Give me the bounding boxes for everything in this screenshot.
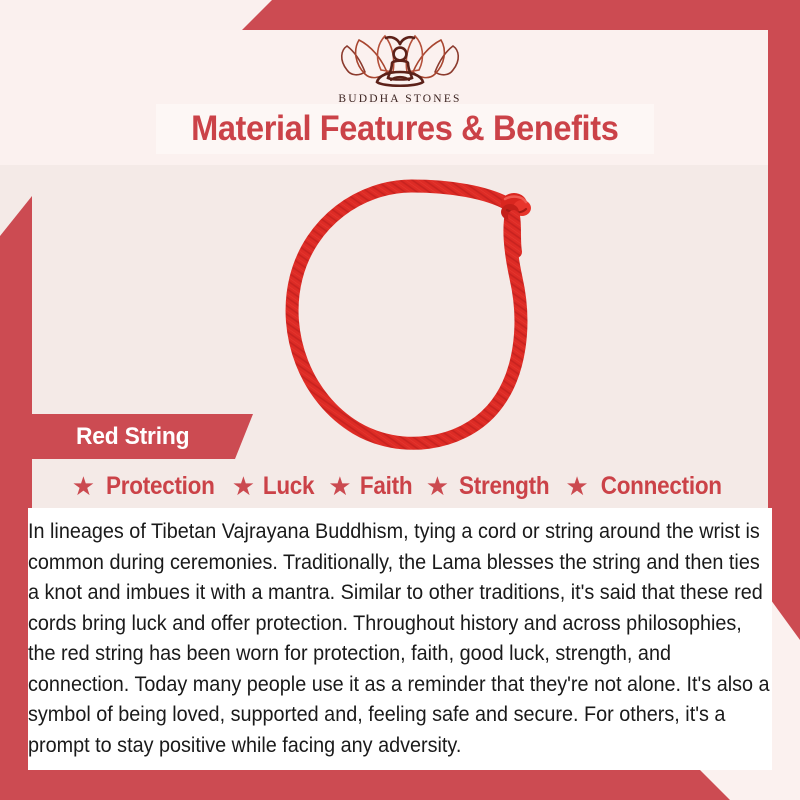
benefit-item: ★ Protection [72,472,221,501]
star-icon: ★ [328,473,351,499]
benefit-label: Connection [600,472,721,501]
brand-logo: BUDDHA STONES [0,30,800,105]
product-tag: Red String [28,414,253,459]
star-icon: ★ [232,473,255,499]
description-panel: In lineages of Tibetan Vajrayana Buddhis… [28,508,772,770]
description-text: In lineages of Tibetan Vajrayana Buddhis… [28,516,772,760]
product-image-bracelet [264,166,564,466]
title-banner: Material Features & Benefits [156,104,654,154]
benefit-label: Protection [106,472,215,501]
star-icon: ★ [72,473,95,499]
benefits-list: ★ Protection ★ Luck ★ Faith ★ Strength ★… [28,468,772,504]
benefit-label: Luck [263,472,314,501]
benefit-item: ★ Luck [232,472,317,501]
benefit-item: ★ Faith [328,472,415,501]
benefit-label: Faith [359,472,411,501]
product-tag-label: Red String [76,423,189,451]
star-icon: ★ [565,473,588,499]
benefit-item: ★ Connection [565,472,728,501]
benefit-label: Strength [459,472,549,501]
benefit-item: ★ Strength [426,472,555,501]
page-title: Material Features & Benefits [191,109,618,149]
top-red-bar [0,0,800,30]
star-icon: ★ [426,473,449,499]
lotus-meditation-icon [331,30,469,92]
